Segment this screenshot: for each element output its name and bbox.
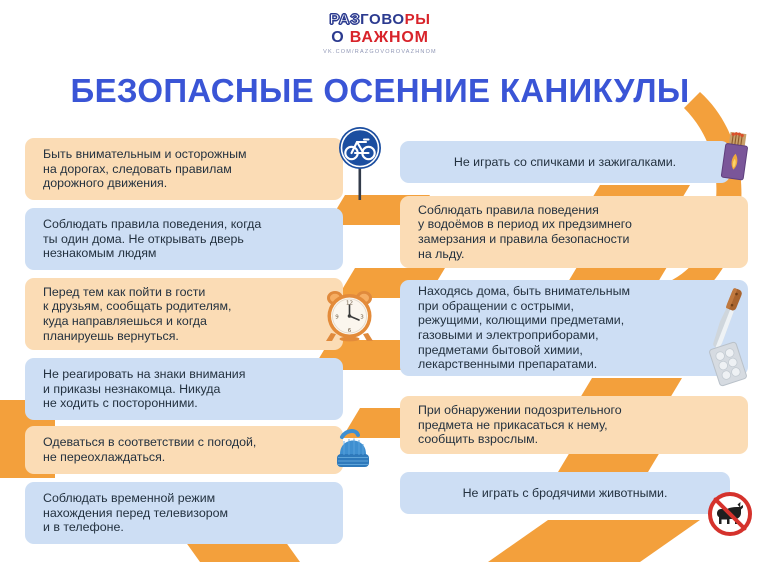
card-rule-suspicious-object: При обнаружении подозрительного предмета… [400,396,748,454]
logo-block: РАЗГОВОРЫ О ВАЖНОМ vk.com/razgovorovazhn… [0,12,760,55]
card-rule-screen-time: Соблюдать временной режим нахождения пер… [25,482,343,544]
bicycle-sign-icon [333,126,387,200]
no-dog-icon [706,490,754,538]
card-text: Не играть с бродячими животными. [400,486,730,501]
poster-root: РАЗГОВОРЫ О ВАЖНОМ vk.com/razgovorovazhn… [0,0,760,562]
svg-text:6: 6 [348,328,352,334]
card-rule-stray-animals: Не играть с бродячими животными. [400,472,730,514]
card-text: Находясь дома, быть внимательным при обр… [400,284,640,372]
matchbox-icon [718,131,756,185]
svg-text:3: 3 [360,315,364,321]
card-rule-tell-parents: Перед тем как пойти в гости к друзьям, с… [25,278,343,350]
card-text: Соблюдать правила поведения у водоёмов в… [400,203,642,261]
logo-line-1: РАЗГОВОРЫ [0,12,760,28]
logo-word-raz: РАЗ [329,11,360,28]
knit-hat-icon [330,424,376,472]
card-text: Перед тем как пойти в гости к друзьям, с… [25,285,241,343]
logo-word-ry: РЫ [405,11,431,28]
card-rule-strangers: Не реагировать на знаки внимания и прика… [25,358,343,420]
card-text: Соблюдать правила поведения, когда ты од… [25,217,271,261]
logo-word-vazhnom: ВАЖНОМ [350,29,429,46]
card-rule-dress-weather: Одеваться в соответствии с погодой, не п… [25,426,343,474]
card-text: Одеваться в соответствии с погодой, не п… [25,435,266,464]
logo-word-o: О [331,29,350,46]
page-title: БЕЗОПАСНЫЕ ОСЕННИЕ КАНИКУЛЫ [0,72,760,110]
card-text: При обнаружении подозрительного предмета… [400,403,632,447]
card-text: Не реагировать на знаки внимания и прика… [25,367,255,411]
card-rule-traffic: Быть внимательным и осторожным на дорога… [25,138,343,200]
pills-icon [706,340,750,388]
alarm-clock-icon: 12 3 6 9 [323,287,377,345]
card-text: Не играть со спичками и зажигалками. [400,155,730,170]
card-text: Быть внимательным и осторожным на дорога… [25,147,257,191]
card-rule-sharp-objects: Находясь дома, быть внимательным при обр… [400,280,748,376]
logo-url: vk.com/razgovorovazhnom [0,49,760,55]
svg-text:9: 9 [335,315,339,321]
card-rule-water-ice: Соблюдать правила поведения у водоёмов в… [400,196,748,268]
card-rule-matches: Не играть со спичками и зажигалками. [400,141,730,183]
logo-line-2: О ВАЖНОМ [0,29,760,47]
logo-word-govo: ГОВО [360,11,405,28]
card-text: Соблюдать временной режим нахождения пер… [25,491,238,535]
card-rule-home-alone: Соблюдать правила поведения, когда ты од… [25,208,343,270]
